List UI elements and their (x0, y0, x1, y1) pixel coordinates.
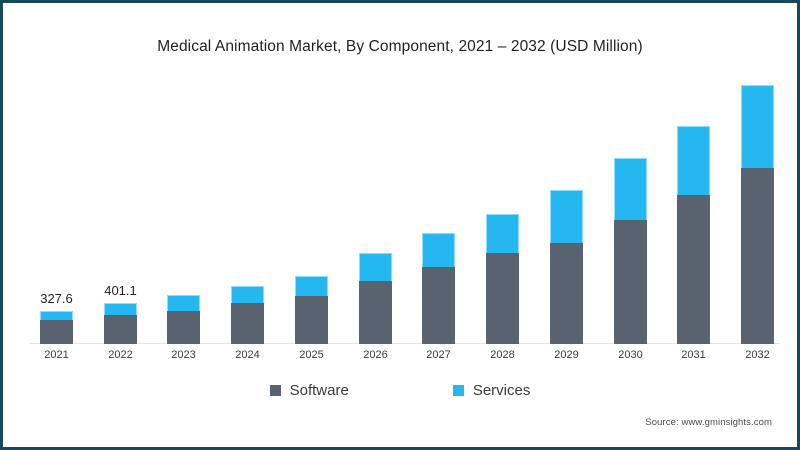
bar-segment-services[interactable] (231, 286, 264, 304)
chart-legend: Software Services (6, 382, 794, 399)
bar-segment-software[interactable] (486, 253, 519, 344)
bar-segment-services[interactable] (422, 233, 455, 266)
x-tick-2031: 2031 (677, 349, 710, 361)
bar-segment-services[interactable] (359, 253, 392, 280)
bar-value-label: 327.6 (40, 291, 73, 306)
x-axis-baseline (30, 343, 780, 344)
bar-segment-software[interactable] (359, 281, 392, 344)
bar-segment-software[interactable] (422, 267, 455, 344)
x-tick-2029: 2029 (550, 349, 583, 361)
bar-segment-services[interactable] (40, 311, 73, 320)
bar-segment-software[interactable] (741, 168, 774, 345)
plot-area: 327.6401.1 (40, 81, 774, 344)
chart-canvas: Medical Animation Market, By Component, … (6, 6, 794, 444)
square-swatch-icon (270, 385, 281, 396)
bar-segment-software[interactable] (614, 220, 647, 344)
x-axis-tick-labels: 2021202220232024202520262027202820292030… (40, 349, 774, 367)
source-attribution: Source: www.gminsights.com (645, 417, 772, 428)
chart-title: Medical Animation Market, By Component, … (6, 38, 794, 56)
bar-segment-services[interactable] (486, 214, 519, 253)
bar-segment-services[interactable] (104, 303, 137, 315)
bar-segment-services[interactable] (614, 158, 647, 220)
x-tick-2024: 2024 (231, 349, 264, 361)
bar-segment-services[interactable] (677, 126, 710, 195)
bar-segment-services[interactable] (167, 295, 200, 310)
bar-segment-software[interactable] (167, 311, 200, 344)
bar-segment-services[interactable] (741, 85, 774, 167)
legend-item-software[interactable]: Software (270, 382, 349, 399)
x-tick-2025: 2025 (295, 349, 328, 361)
x-tick-2032: 2032 (741, 349, 774, 361)
chart-figure: Medical Animation Market, By Component, … (0, 0, 800, 450)
bar-segment-software[interactable] (231, 303, 264, 344)
legend-label: Software (290, 382, 349, 399)
bar-segment-software[interactable] (550, 243, 583, 344)
bar-segment-software[interactable] (40, 320, 73, 344)
x-tick-2030: 2030 (614, 349, 647, 361)
x-tick-2028: 2028 (486, 349, 519, 361)
bar-segment-software[interactable] (677, 195, 710, 344)
x-tick-2026: 2026 (359, 349, 392, 361)
x-tick-2027: 2027 (422, 349, 455, 361)
legend-label: Services (473, 382, 531, 399)
legend-item-services[interactable]: Services (453, 382, 531, 399)
bar-segment-services[interactable] (295, 276, 328, 296)
bar-value-label: 401.1 (104, 283, 137, 298)
bar-segment-software[interactable] (295, 296, 328, 344)
bar-segment-services[interactable] (550, 190, 583, 242)
x-tick-2023: 2023 (167, 349, 200, 361)
bar-segment-software[interactable] (104, 315, 137, 344)
x-tick-2021: 2021 (40, 349, 73, 361)
x-tick-2022: 2022 (104, 349, 137, 361)
square-swatch-icon (453, 385, 464, 396)
